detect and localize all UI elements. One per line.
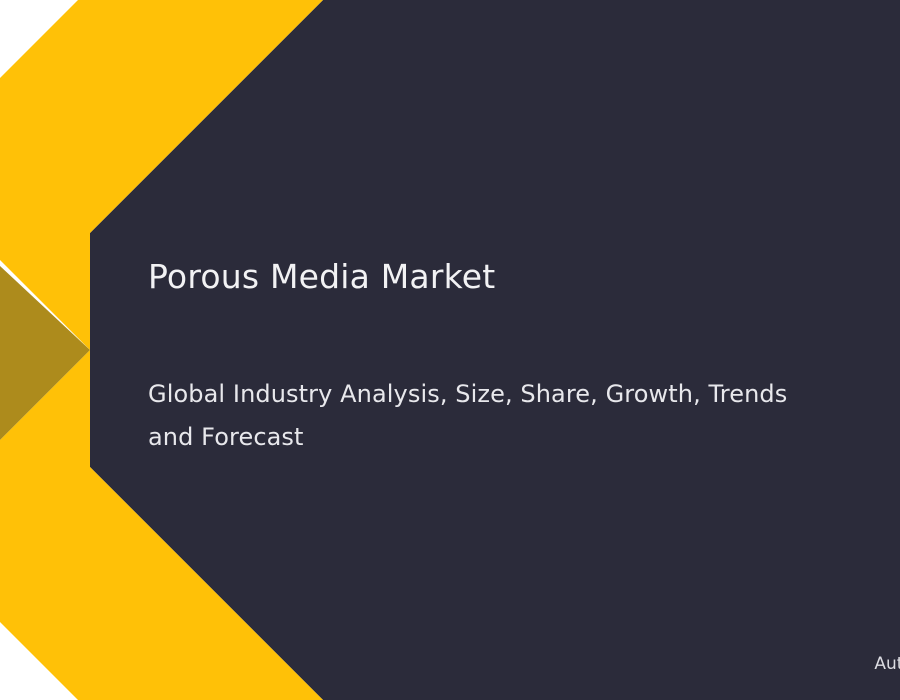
slide-text-layer: Porous Media Market Global Industry Anal… [0, 0, 900, 700]
author-label: Author: Data [683, 652, 900, 676]
subtitle-block: Global Industry Analysis, Size, Share, G… [148, 373, 788, 459]
author-block: Author: Data [600, 652, 900, 682]
page-title: Porous Media Market [148, 256, 848, 297]
title-slide: Porous Media Market Global Industry Anal… [0, 0, 900, 700]
page-subtitle: Global Industry Analysis, Size, Share, G… [148, 373, 788, 459]
title-block: Porous Media Market [148, 256, 848, 297]
